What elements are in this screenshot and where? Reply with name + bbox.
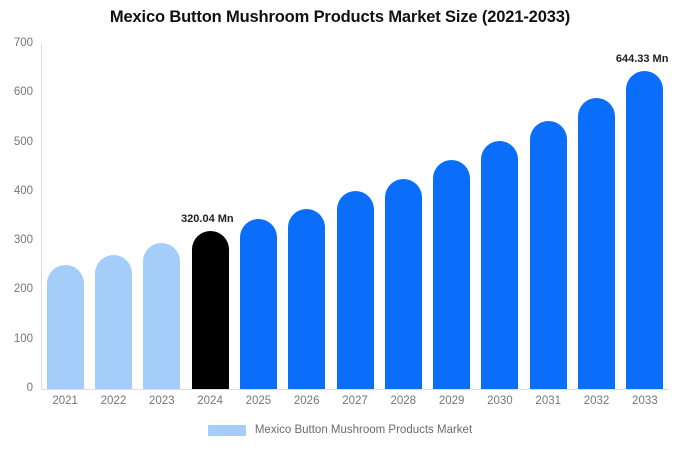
y-axis-tick-label: 300 [0,235,33,247]
y-axis-tick-label: 400 [0,186,33,198]
x-axis-tick-label: 2022 [88,396,138,408]
bar-chart: Mexico Button Mushroom Products Market S… [0,0,680,450]
x-axis-tick-labels: 2021202220232024202520262027202820292030… [41,0,669,450]
y-axis-tick-label: 200 [0,284,33,296]
y-axis-tick-label: 500 [0,137,33,149]
legend-item-label: Mexico Button Mushroom Products Market [255,425,472,437]
x-axis-tick-label: 2031 [523,396,573,408]
legend-swatch-icon [208,425,246,436]
y-axis-tick-label: 100 [0,334,33,346]
x-axis-tick-label: 2025 [233,396,283,408]
y-axis-tick-label: 0 [0,383,33,395]
x-axis-tick-label: 2030 [475,396,525,408]
x-axis-tick-label: 2033 [620,396,670,408]
x-axis-tick-label: 2024 [185,396,235,408]
x-axis-tick-label: 2027 [330,396,380,408]
chart-legend: Mexico Button Mushroom Products Market [0,425,680,437]
x-axis-tick-label: 2029 [427,396,477,408]
data-label-2024: 320.04 Mn [181,214,234,225]
x-axis-tick-label: 2023 [137,396,187,408]
x-axis-tick-label: 2026 [282,396,332,408]
y-axis-tick-label: 600 [0,87,33,99]
y-axis-tick-label: 700 [0,38,33,50]
x-axis-tick-label: 2028 [378,396,428,408]
x-axis-tick-label: 2032 [572,396,622,408]
data-label-2033: 644.33 Mn [616,54,669,65]
x-axis-tick-label: 2021 [40,396,90,408]
